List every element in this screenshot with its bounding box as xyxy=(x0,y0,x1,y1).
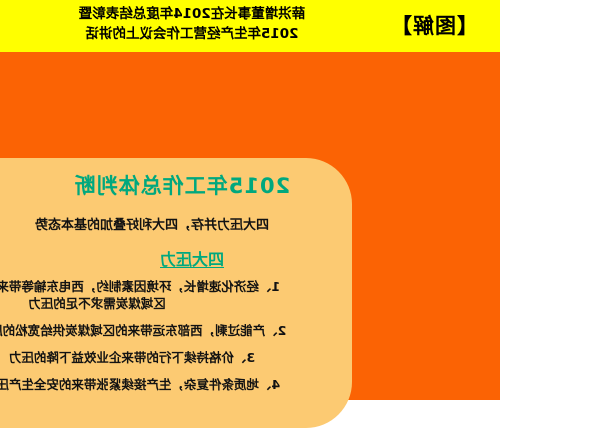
list-item-line1: 2、产能过剩，西部东运带来的区域煤炭供给宽松的压力 xyxy=(0,323,286,338)
bullet-list: 1、经济化速增长，环境因素制约，西电东输等带来的 区域煤炭需求不足的压力 2、产… xyxy=(0,278,352,403)
slide-canvas: 【图解】 薛洪增董事长在2014年度总结表彰暨 2015年生产经营工作会议上的讲… xyxy=(0,0,600,400)
orange-frame: 2015年工作总体判断 四大压力并存，四大利好叠加的基本态势 四大压力 1、经济… xyxy=(0,52,500,400)
list-item: 4、地质条件复杂，生产接续紧张带来的安全生产压力 xyxy=(0,376,352,393)
content-panel: 2015年工作总体判断 四大压力并存，四大利好叠加的基本态势 四大压力 1、经济… xyxy=(0,158,352,428)
list-item: 2、产能过剩，西部东运带来的区域煤炭供给宽松的压力 xyxy=(0,322,352,339)
list-item-line2: 区域煤炭需求不足的压力 xyxy=(0,295,352,312)
list-item-line1: 1、经济化速增长，环境因素制约，西电东输等带来的 xyxy=(0,279,280,294)
list-item-line1: 3、价格持续下行的带来企业效益下降的压力 xyxy=(9,350,255,365)
header-title: 薛洪增董事长在2014年度总结表彰暨 2015年生产经营工作会议上的讲话 xyxy=(12,4,372,44)
list-item-line1: 4、地质条件复杂，生产接续紧张带来的安全生产压力 xyxy=(0,377,280,392)
header-badge: 【图解】 xyxy=(378,10,490,42)
lead-statement: 四大压力并存，四大利好叠加的基本态势 xyxy=(0,214,352,233)
header-band: 【图解】 薛洪增董事长在2014年度总结表彰暨 2015年生产经营工作会议上的讲… xyxy=(0,0,500,52)
section-heading-four-pressures: 四大压力 xyxy=(32,246,352,270)
list-item: 3、价格持续下行的带来企业效益下降的压力 xyxy=(0,349,352,366)
panel-title: 2015年工作总体判断 xyxy=(12,170,352,200)
header-title-line2: 2015年生产经营工作会议上的讲话 xyxy=(12,24,372,44)
header-title-line1: 薛洪增董事长在2014年度总结表彰暨 xyxy=(12,4,372,24)
list-item: 1、经济化速增长，环境因素制约，西电东输等带来的 区域煤炭需求不足的压力 xyxy=(0,278,352,312)
